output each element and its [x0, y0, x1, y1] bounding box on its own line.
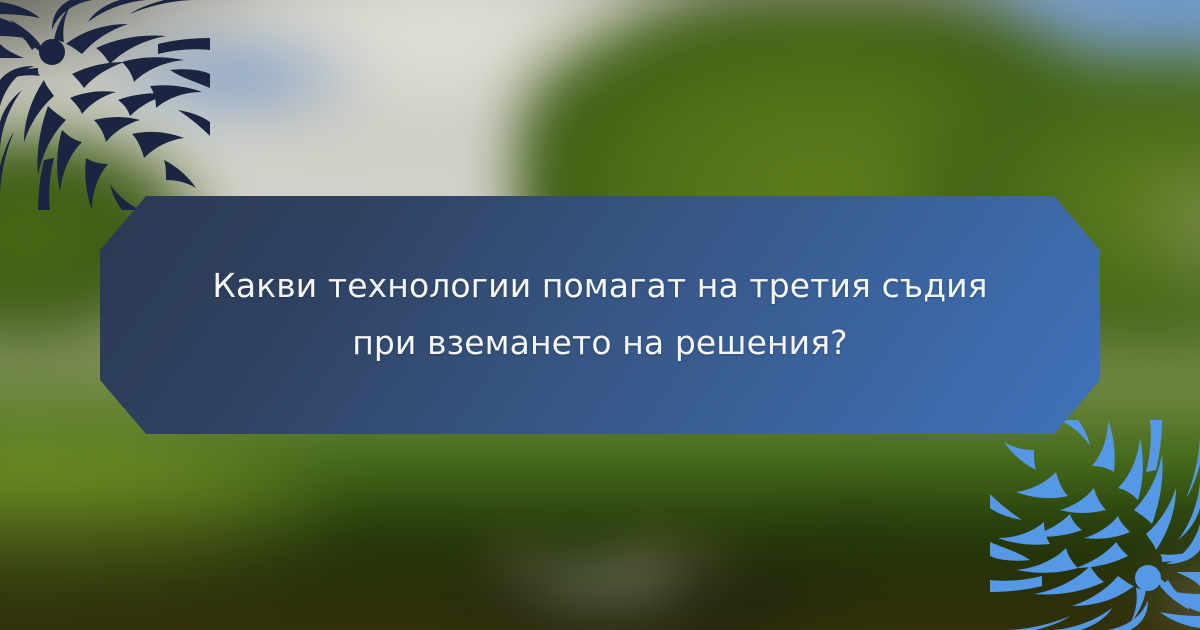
mooring-post [852, 474, 860, 630]
person-figure-left [495, 546, 537, 586]
quote-line-2: при вземането на решения? [160, 315, 1040, 372]
background-haze-right [1132, 140, 1200, 315]
foreground-blur-right [1132, 561, 1200, 630]
blue-sky-patch-left [82, 21, 390, 132]
quote-line-1: Какви технологии помагат на третия съдия [160, 258, 1040, 315]
person-figure-right [684, 546, 726, 586]
quote-banner: Какви технологии помагат на третия съдия… [100, 196, 1100, 434]
quote-card: Какви технологии помагат на третия съдия… [0, 0, 1200, 630]
quote-text: Какви технологии помагат на третия съдия… [160, 258, 1040, 372]
